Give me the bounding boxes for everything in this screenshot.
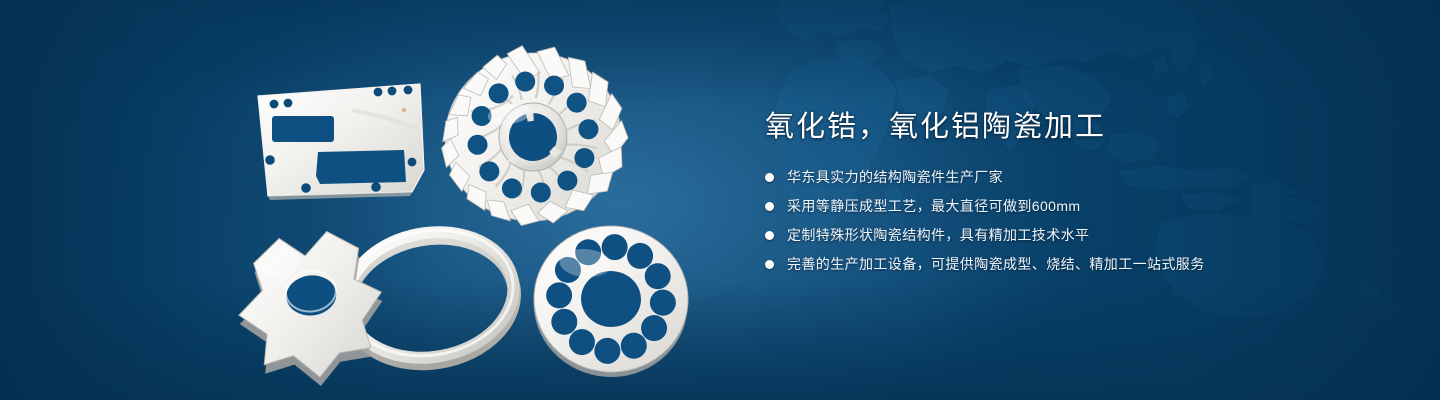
list-item-label: 完善的生产加工设备，可提供陶瓷成型、烧结、精加工一站式服务: [787, 253, 1205, 275]
ceramic-perforated-disc: [529, 221, 693, 382]
list-item-label: 定制特殊形状陶瓷结构件，具有精加工技术水平: [787, 224, 1089, 246]
list-item: 采用等静压成型工艺，最大直径可做到600mm: [765, 195, 1385, 217]
list-item: 华东具实力的结构陶瓷件生产厂家: [765, 166, 1385, 188]
bullet-dot-icon: [765, 173, 774, 182]
hero-banner: 氧化锆，氧化铝陶瓷加工 华东具实力的结构陶瓷件生产厂家 采用等静压成型工艺，最大…: [0, 0, 1440, 400]
page-title: 氧化锆，氧化铝陶瓷加工: [765, 108, 1385, 146]
bullet-dot-icon: [765, 231, 774, 240]
banner-copy: 氧化锆，氧化铝陶瓷加工 华东具实力的结构陶瓷件生产厂家 采用等静压成型工艺，最大…: [765, 108, 1385, 282]
list-item-label: 华东具实力的结构陶瓷件生产厂家: [787, 166, 1003, 188]
bullet-dot-icon: [765, 260, 774, 269]
list-item: 定制特殊形状陶瓷结构件，具有精加工技术水平: [765, 224, 1385, 246]
list-item-label: 采用等静压成型工艺，最大直径可做到600mm: [787, 195, 1080, 217]
feature-list: 华东具实力的结构陶瓷件生产厂家 采用等静压成型工艺，最大直径可做到600mm 定…: [765, 166, 1385, 275]
ceramic-flat-plate: [258, 84, 424, 200]
list-item: 完善的生产加工设备，可提供陶瓷成型、烧结、精加工一站式服务: [765, 253, 1385, 275]
ceramic-impeller-disc: [429, 33, 638, 237]
bullet-dot-icon: [765, 202, 774, 211]
product-photo-group: [0, 0, 760, 400]
